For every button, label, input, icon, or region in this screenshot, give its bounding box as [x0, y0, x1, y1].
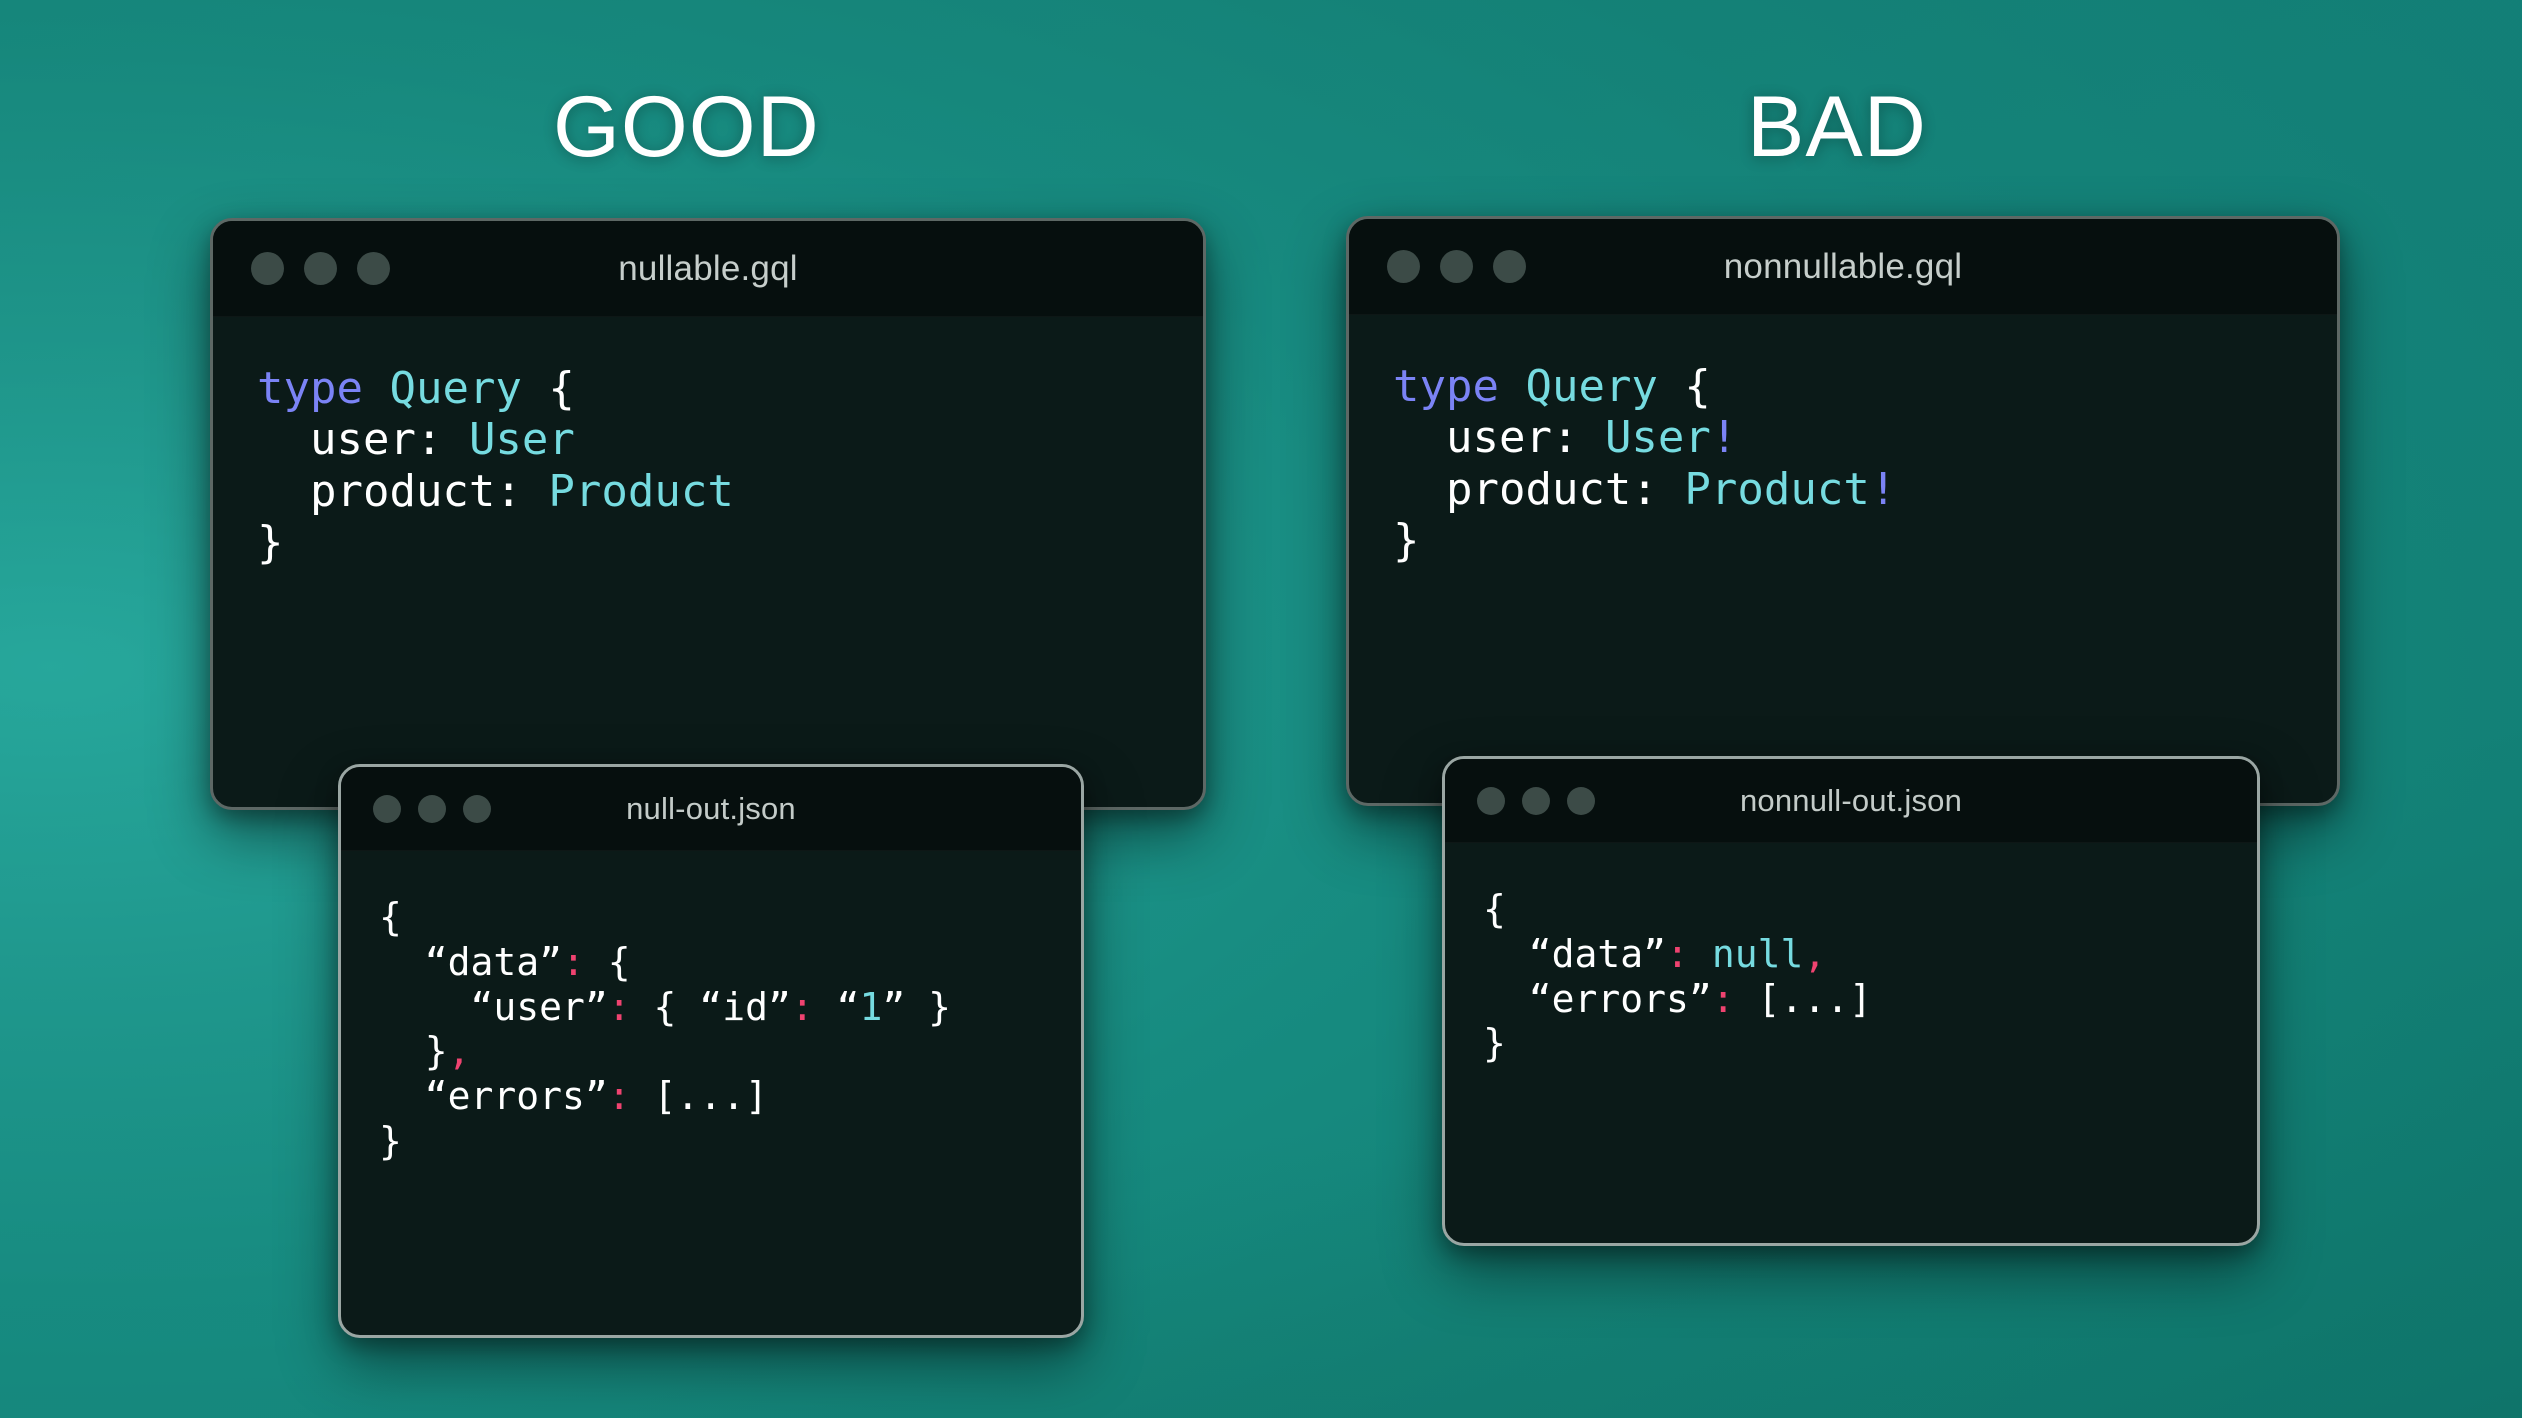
code-token: , — [448, 1029, 471, 1073]
code-line: type Query { — [257, 363, 1203, 414]
code-token — [1658, 361, 1685, 412]
minimize-dot-icon[interactable] — [1440, 250, 1473, 283]
code-token: user — [1393, 412, 1552, 463]
maximize-dot-icon[interactable] — [357, 252, 390, 285]
code-token — [522, 363, 549, 414]
minimize-dot-icon[interactable] — [1522, 787, 1550, 815]
code-token: ! — [1711, 412, 1738, 463]
titlebar: nonnullable.gql — [1349, 219, 2337, 315]
code-line: type Query { — [1393, 361, 2337, 412]
code-token: : — [562, 940, 585, 984]
code-token: : — [1666, 932, 1689, 976]
maximize-dot-icon[interactable] — [463, 795, 491, 823]
code-token: type — [1393, 361, 1499, 412]
code-token: ! — [1870, 464, 1897, 515]
code-token: } — [379, 1119, 402, 1163]
code-line: “data”: null, — [1483, 932, 2257, 977]
code-token: type — [257, 363, 363, 414]
code-line: product: Product! — [1393, 464, 2337, 515]
code-token: product — [257, 466, 495, 517]
output-window-bad[interactable]: nonnull-out.json { “data”: null, “errors… — [1442, 756, 2260, 1246]
code-token: : — [1552, 412, 1605, 463]
code-token: } — [379, 1029, 448, 1073]
minimize-dot-icon[interactable] — [304, 252, 337, 285]
code-token: Query — [1525, 361, 1657, 412]
schema-window-good[interactable]: nullable.gql type Query { user: User pro… — [210, 218, 1206, 810]
code-token: “data” — [379, 940, 562, 984]
code-token: : — [1631, 464, 1684, 515]
code-line: } — [1393, 515, 2337, 566]
code-token: [...] — [1735, 977, 1872, 1021]
code-token: { — [631, 985, 700, 1029]
code-token: : — [791, 985, 814, 1029]
maximize-dot-icon[interactable] — [1493, 250, 1526, 283]
code-token: Product — [548, 466, 733, 517]
column-heading-good: GOOD — [553, 84, 820, 170]
close-dot-icon[interactable] — [373, 795, 401, 823]
code-block: type Query { user: User! product: Produc… — [1349, 315, 2337, 567]
code-token: } — [1483, 1021, 1506, 1065]
code-token: “errors” — [1483, 977, 1712, 1021]
code-token: { — [548, 363, 575, 414]
code-line: { — [1483, 887, 2257, 932]
code-token: : — [1712, 977, 1735, 1021]
code-token: user — [257, 414, 416, 465]
code-token: { — [1684, 361, 1711, 412]
titlebar: nonnull-out.json — [1445, 759, 2257, 843]
code-block: { “data”: { “user”: { “id”: “1” } }, “er… — [341, 851, 1081, 1164]
code-token — [1689, 932, 1712, 976]
minimize-dot-icon[interactable] — [418, 795, 446, 823]
code-token: User — [1605, 412, 1711, 463]
code-line: { — [379, 895, 1081, 940]
code-token: User — [469, 414, 575, 465]
code-line: } — [257, 517, 1203, 568]
titlebar: null-out.json — [341, 767, 1081, 851]
window-controls — [1477, 787, 1595, 815]
code-token: [...] — [631, 1074, 768, 1118]
maximize-dot-icon[interactable] — [1567, 787, 1595, 815]
code-token: { — [585, 940, 631, 984]
code-token: : — [495, 466, 548, 517]
code-token: “id” — [699, 985, 791, 1029]
window-controls — [1387, 250, 1526, 283]
code-token: null — [1712, 932, 1804, 976]
window-controls — [373, 795, 491, 823]
output-window-good[interactable]: null-out.json { “data”: { “user”: { “id”… — [338, 764, 1084, 1338]
schema-window-bad[interactable]: nonnullable.gql type Query { user: User!… — [1346, 216, 2340, 806]
code-line: “errors”: [...] — [1483, 977, 2257, 1022]
code-token: “errors” — [379, 1074, 608, 1118]
code-token: ” } — [882, 985, 951, 1029]
code-token: { — [1483, 887, 1506, 931]
code-line: product: Product — [257, 466, 1203, 517]
code-token: Product — [1684, 464, 1869, 515]
close-dot-icon[interactable] — [1387, 250, 1420, 283]
code-line: user: User! — [1393, 412, 2337, 463]
code-block: type Query { user: User product: Product… — [213, 317, 1203, 569]
code-line: “data”: { — [379, 940, 1081, 985]
code-line: }, — [379, 1029, 1081, 1074]
code-token — [363, 363, 390, 414]
titlebar: nullable.gql — [213, 221, 1203, 317]
code-line: } — [1483, 1021, 2257, 1066]
code-token: Query — [389, 363, 521, 414]
code-token: , — [1803, 932, 1826, 976]
code-block: { “data”: null, “errors”: [...]} — [1445, 843, 2257, 1066]
code-line: user: User — [257, 414, 1203, 465]
code-token: } — [1393, 515, 1420, 566]
window-controls — [251, 252, 390, 285]
code-token: } — [257, 517, 284, 568]
code-token — [1499, 361, 1526, 412]
code-token: product — [1393, 464, 1631, 515]
code-token: “user” — [379, 985, 608, 1029]
column-heading-bad: BAD — [1747, 84, 1927, 170]
code-token: : — [608, 985, 631, 1029]
code-token: “ — [814, 985, 860, 1029]
code-line: “errors”: [...] — [379, 1074, 1081, 1119]
close-dot-icon[interactable] — [1477, 787, 1505, 815]
code-token: : — [416, 414, 469, 465]
code-token: : — [608, 1074, 631, 1118]
code-line: “user”: { “id”: “1” } — [379, 985, 1081, 1030]
code-token: { — [379, 895, 402, 939]
comparison-stage: GOOD nullable.gql type Query { user: Use… — [0, 0, 2522, 1418]
code-line: } — [379, 1119, 1081, 1164]
code-token: “data” — [1483, 932, 1666, 976]
close-dot-icon[interactable] — [251, 252, 284, 285]
code-token: 1 — [859, 985, 882, 1029]
